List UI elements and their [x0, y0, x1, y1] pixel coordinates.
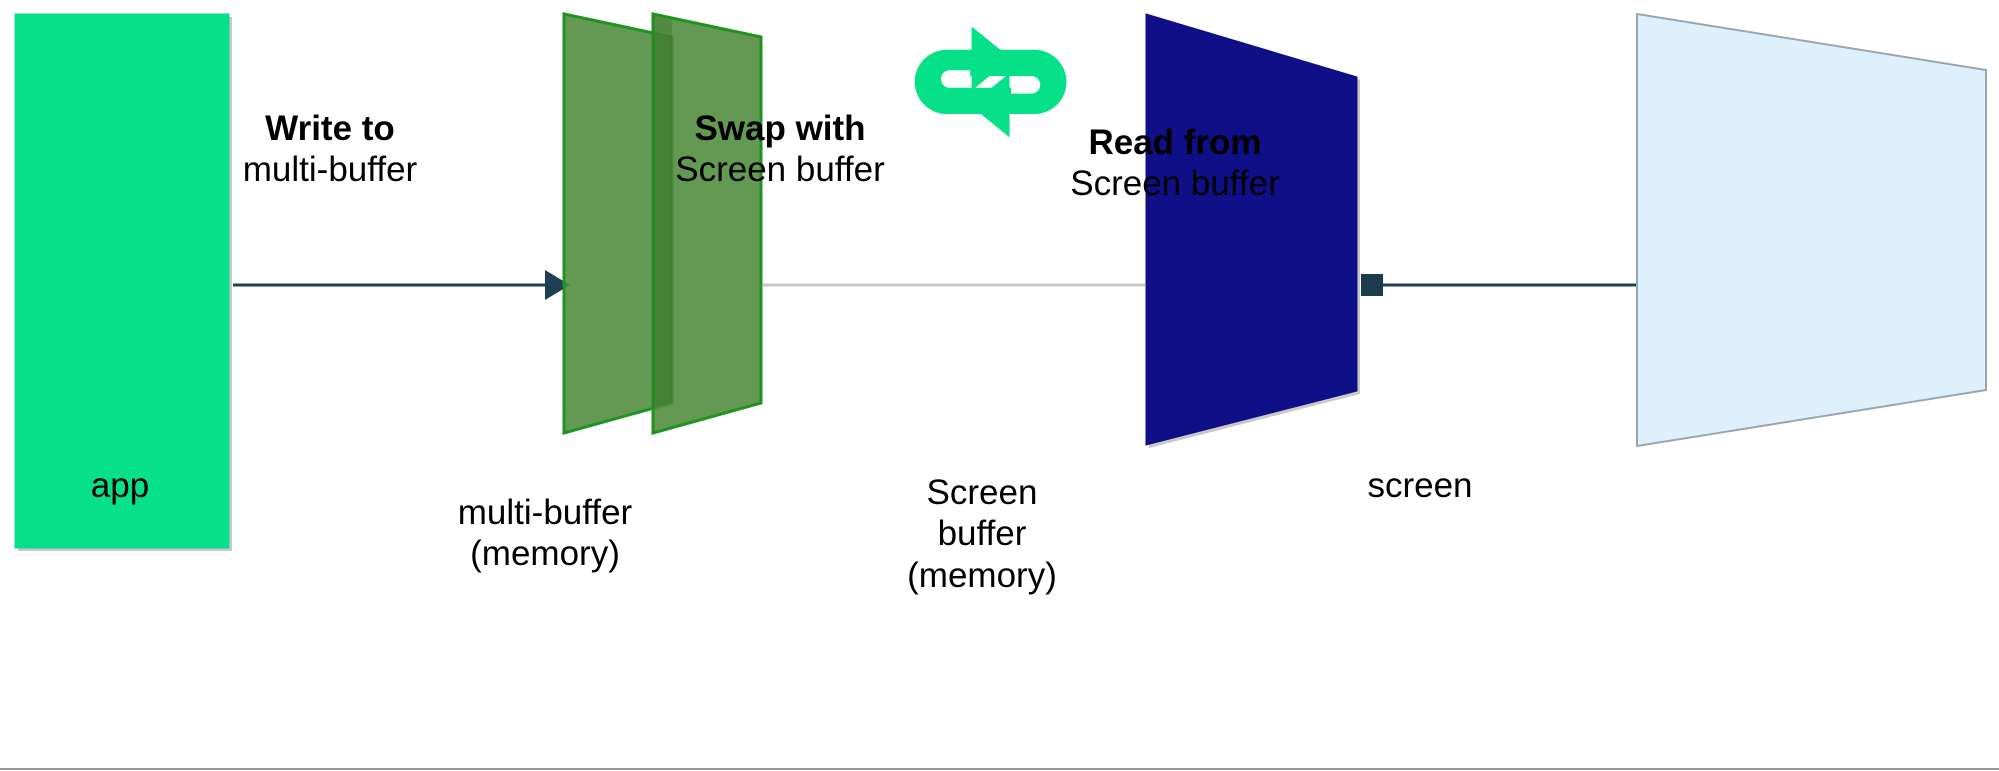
swap-with-label-plain: Screen buffer	[615, 149, 945, 190]
node-screen-buffer[interactable]	[1146, 14, 1360, 448]
read-from-endpoint-square	[1361, 274, 1383, 296]
swap-with-label-bold: Swap with	[615, 108, 945, 149]
multi-buffer-overlap	[653, 16, 672, 408]
multi-buffer-caption-line1: multi-buffer	[395, 492, 695, 533]
screen-buffer-caption-line3: (memory)	[832, 555, 1132, 596]
write-to-label-plain: multi-buffer	[165, 149, 495, 190]
write-to-label-bold: Write to	[165, 108, 495, 149]
node-caption-app: app	[0, 465, 270, 506]
connector-read-from[interactable]	[1361, 274, 1645, 296]
connector-label-swap-with: Swap with Screen buffer	[615, 108, 945, 191]
connector-write-to[interactable]	[233, 270, 570, 300]
connector-label-read-from: Read from Screen buffer	[1010, 122, 1340, 205]
screen-buffer-caption-line1: Screen	[832, 472, 1132, 513]
node-multi-buffer[interactable]	[564, 14, 761, 433]
node-caption-multi-buffer: multi-buffer (memory)	[395, 492, 695, 575]
screen-shape[interactable]	[1637, 14, 1986, 446]
app-caption-line1: app	[0, 465, 270, 506]
read-from-label-plain: Screen buffer	[1010, 163, 1340, 204]
read-from-label-bold: Read from	[1010, 122, 1340, 163]
screen-caption-line1: screen	[1270, 465, 1570, 506]
multi-buffer-caption-line2: (memory)	[395, 533, 695, 574]
node-caption-screen-buffer: Screen buffer (memory)	[832, 472, 1132, 596]
diagram-canvas: Write to multi-buffer Swap with Screen b…	[0, 0, 1999, 771]
node-caption-screen: screen	[1270, 465, 1570, 506]
screen-buffer-caption-line2: buffer	[832, 513, 1132, 554]
node-screen[interactable]	[1637, 14, 1986, 446]
connector-label-write-to: Write to multi-buffer	[165, 108, 495, 191]
screen-buffer-shape[interactable]	[1146, 14, 1357, 445]
